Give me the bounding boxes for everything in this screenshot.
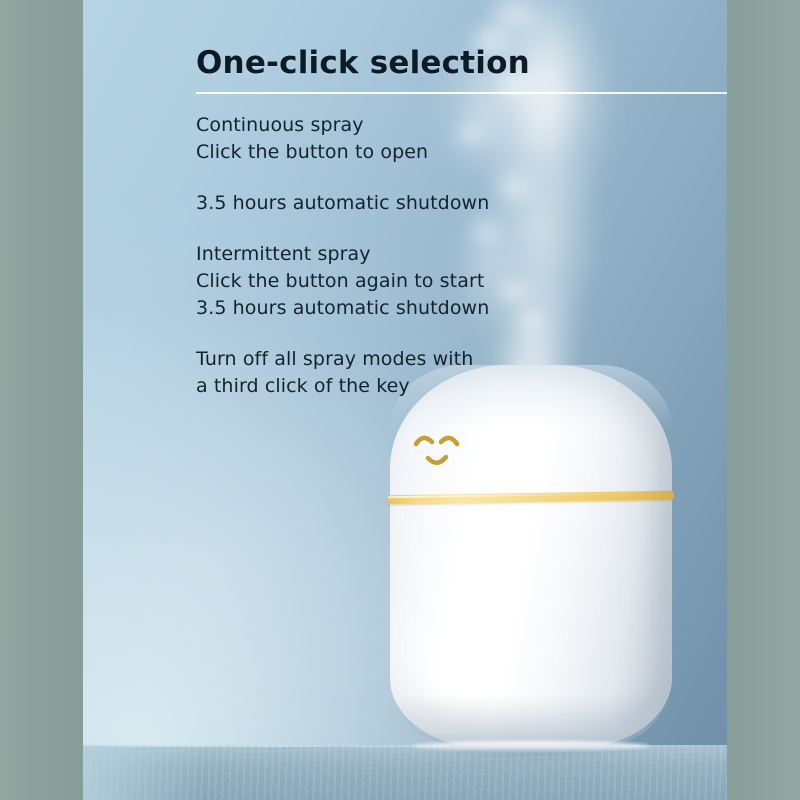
feature-line: 3.5 hours automatic shutdown — [196, 295, 489, 322]
product-image-canvas: One-click selection Continuous spray Cli… — [0, 0, 800, 800]
mist-column — [468, 0, 618, 230]
mist-puff — [507, 300, 555, 340]
mist-puff — [485, 268, 543, 314]
feature-paragraph-continuous-spray: Continuous spray Click the button to ope… — [196, 112, 489, 166]
feature-line: Intermittent spray — [196, 241, 489, 268]
feature-paragraph-turn-off: Turn off all spray modes with a third cl… — [196, 346, 489, 400]
feature-paragraph-continuous-shutdown: 3.5 hours automatic shutdown — [196, 190, 489, 217]
page-title: One-click selection — [196, 46, 530, 80]
humidifier-base-shading — [396, 694, 666, 748]
title-divider — [196, 92, 727, 94]
feature-list: Continuous spray Click the button to ope… — [196, 112, 489, 400]
smiley-face-icon — [412, 427, 482, 479]
feature-line: Click the button to open — [196, 139, 489, 166]
ledge-light-fade — [83, 745, 203, 800]
mist-puff — [481, 160, 547, 214]
feature-line: Click the button again to start — [196, 268, 489, 295]
feature-line: Continuous spray — [196, 112, 489, 139]
feature-line: 3.5 hours automatic shutdown — [196, 190, 489, 217]
feature-line: a third click of the key — [196, 373, 489, 400]
humidifier-device — [390, 365, 672, 748]
right-border-band — [727, 0, 800, 800]
humidifier-base-rim — [412, 741, 650, 751]
feature-line: Turn off all spray modes with — [196, 346, 489, 373]
mist-puff — [471, 0, 557, 46]
feature-paragraph-intermittent-spray: Intermittent spray Click the button agai… — [196, 241, 489, 322]
smiley-face — [412, 427, 482, 479]
left-border-band — [0, 0, 83, 800]
mist-column — [481, 120, 601, 350]
product-photo: One-click selection Continuous spray Cli… — [83, 0, 727, 800]
